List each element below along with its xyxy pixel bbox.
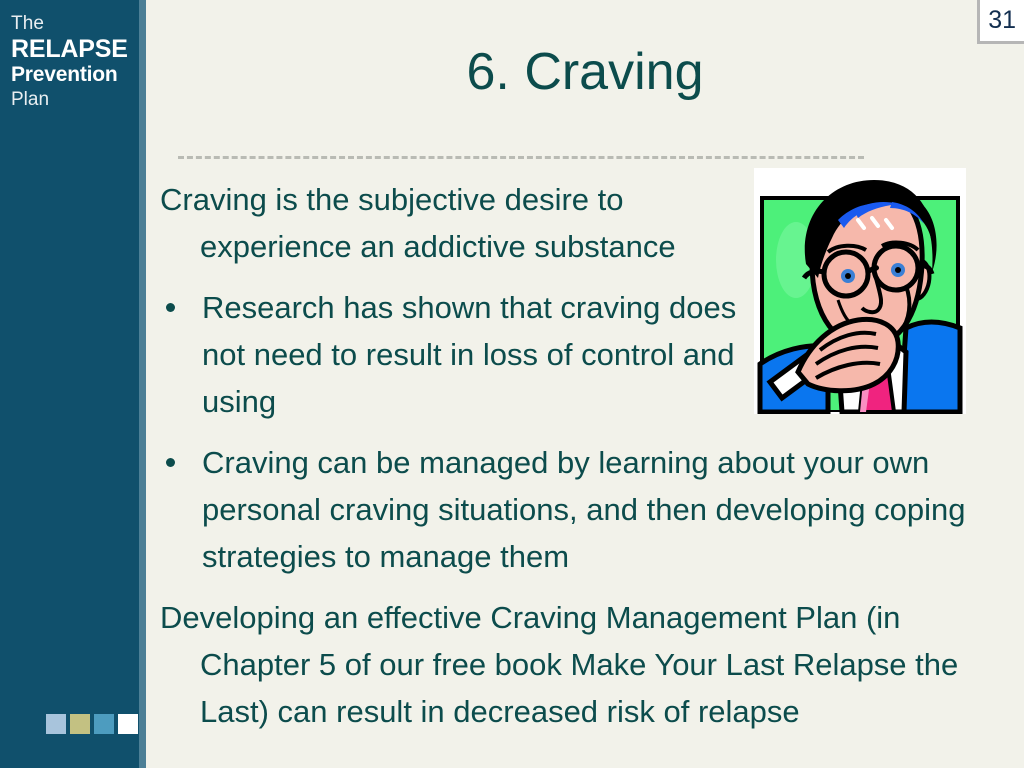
swatch-white <box>118 714 138 734</box>
page-title: 6. Craving <box>146 42 1024 102</box>
bullet-item-research: Research has shown that craving does not… <box>160 284 762 425</box>
brand-line-relapse: RELAPSE <box>11 36 139 63</box>
brand-line-prevention: Prevention <box>11 63 139 87</box>
slide: The RELAPSE Prevention Plan 31 6. Cravin… <box>0 0 1024 768</box>
spacer <box>160 431 972 439</box>
swatch-light-blue <box>46 714 66 734</box>
slide-body: Craving is the subjective desire to expe… <box>160 176 972 741</box>
sidebar <box>0 0 146 768</box>
bullet-item-management-text: Craving can be managed by learning about… <box>202 445 965 574</box>
paragraph-closing-text: Developing an effective Craving Manageme… <box>160 600 958 729</box>
bullet-dot-icon <box>166 303 175 312</box>
brand-line-plan: Plan <box>11 90 139 109</box>
spacer <box>160 586 972 594</box>
dashed-divider <box>178 156 864 159</box>
brand-logo: The RELAPSE Prevention Plan <box>11 14 139 109</box>
page-number-badge: 31 <box>977 0 1024 44</box>
bullet-item-management: Craving can be managed by learning about… <box>160 439 1014 580</box>
bullet-item-research-text: Research has shown that craving does not… <box>202 290 736 419</box>
swatch-khaki <box>70 714 90 734</box>
sidebar-edge-strip <box>139 0 146 768</box>
spacer <box>160 276 972 284</box>
swatch-row <box>46 714 138 734</box>
paragraph-intro: Craving is the subjective desire to expe… <box>160 176 760 270</box>
swatch-medium-blue <box>94 714 114 734</box>
bullet-dot-icon <box>166 458 175 467</box>
paragraph-closing: Developing an effective Craving Manageme… <box>160 594 1012 735</box>
paragraph-intro-text: Craving is the subjective desire to expe… <box>160 182 676 264</box>
brand-line-the: The <box>11 14 139 33</box>
